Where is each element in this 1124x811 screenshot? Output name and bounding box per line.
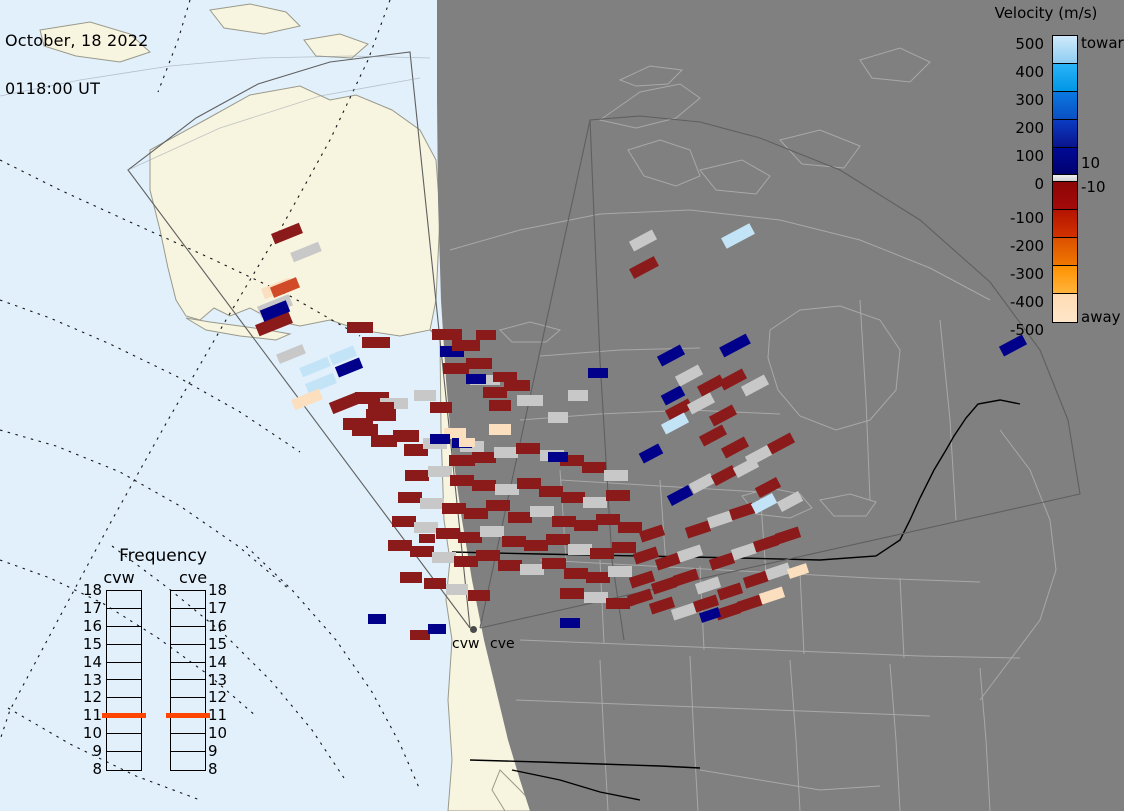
colorbar-segment-7 [1053,210,1077,238]
frequency-cell-cvw-0 [107,591,141,609]
frequency-label-cvw-11: 11 [80,706,102,724]
colorbar-segment-2 [1053,92,1077,120]
velocity-gate [410,546,434,557]
colorbar-segment-9 [1053,266,1077,294]
colorbar-segment-3 [1053,120,1077,148]
velocity-gate [432,552,456,563]
velocity-gate [606,490,630,501]
velocity-gate [414,522,438,533]
velocity-gate [542,558,566,569]
velocity-gate [424,578,446,589]
frequency-scale-labels-cvw: 18171615141312111098 [80,590,102,771]
velocity-gate [517,478,541,489]
frequency-scale-labels-cve: 18171615141312111098 [208,590,230,771]
time-label: 0118:00 UT [5,81,149,97]
velocity-gate [442,503,466,514]
frequency-label-cvw-9: 9 [80,742,102,760]
frequency-scale-box-cvw [106,590,142,771]
frequency-legend-panel: Frequency cvw 18171615141312111098 cve 1… [88,546,238,788]
velocity-gate [405,470,429,481]
station-label-cvw[interactable]: cvw [452,636,479,652]
velocity-gate [524,540,548,551]
velocity-gate [552,516,576,527]
velocity-gate [454,556,478,567]
velocity-gate [517,395,543,406]
date-label: October, 18 2022 [5,33,149,49]
velocity-gate [604,470,628,481]
frequency-label-cvw-16: 16 [80,617,102,635]
frequency-marker-cve [166,713,210,718]
velocity-gate [436,528,460,539]
frequency-cell-cvw-9 [107,752,141,770]
velocity-gate [516,443,540,454]
velocity-gate [618,522,642,533]
velocity-gate [590,548,614,559]
velocity-gate [458,532,482,543]
frequency-label-cvw-18: 18 [80,581,102,599]
velocity-gate [548,412,568,423]
velocity-gate [398,492,422,503]
velocity-gate [430,402,452,413]
velocity-gate [608,566,632,577]
frequency-cell-cvw-7 [107,716,141,734]
frequency-cell-cve-2 [171,627,205,645]
velocity-gate [612,542,636,553]
velocity-gate [420,498,444,509]
frequency-column-cve[interactable]: cve 18171615141312111098 [162,568,224,788]
velocity-gate [472,452,496,463]
colorbar-tick--500: -500 [1010,321,1044,339]
frequency-label-cvw-8: 8 [80,760,102,778]
colorbar-tick--300: -300 [1010,265,1044,283]
velocity-gate [466,374,486,384]
velocity-gate [502,536,526,547]
colorbar-tick-200: 200 [1015,119,1044,137]
colorbar-tick-labels: 5004003002001000-100-200-300-400-500 [968,28,1048,328]
colorbar-tick-0: 0 [1034,175,1044,193]
velocity-colorbar-panel: Velocity (m/s) 5004003002001000-100-200-… [968,2,1124,332]
frequency-cell-cvw-2 [107,627,141,645]
velocity-gate [606,598,630,609]
frequency-label-cve-12: 12 [208,688,230,706]
colorbar-segment-10 [1053,294,1077,322]
velocity-gate [483,387,507,398]
velocity-gate [368,614,386,624]
colorbar-zero-upper-label: 10 [1081,154,1100,172]
velocity-gate [476,330,496,340]
velocity-gate [362,337,390,348]
velocity-gate [352,424,378,436]
velocity-gate [568,390,588,401]
colorbar-gradient-bar[interactable] [1052,35,1078,323]
velocity-gate [419,534,435,543]
frequency-cell-cve-1 [171,609,205,627]
velocity-gate [508,512,532,523]
station-label-cve[interactable]: cve [490,636,515,652]
velocity-gate [560,618,580,628]
velocity-gate [393,430,419,442]
colorbar-segment-6 [1053,182,1077,210]
velocity-gate [414,390,436,401]
frequency-label-cve-13: 13 [208,671,230,689]
velocity-gate [586,572,610,583]
colorbar-side-labels: toward 10 -10 away [1081,28,1124,328]
frequency-label-cve-11: 11 [208,706,230,724]
velocity-gate [520,564,544,575]
velocity-gate [388,540,412,551]
station-marker-cvw [470,626,477,633]
frequency-cell-cve-8 [171,734,205,752]
velocity-gate [449,455,475,466]
colorbar-toward-label: toward [1081,34,1124,52]
frequency-cell-cve-5 [171,680,205,698]
velocity-gate [368,402,394,414]
radar-map-app: October, 18 2022 0118:00 UT Velocity (m/… [0,0,1124,811]
frequency-label-cve-17: 17 [208,599,230,617]
velocity-gate [588,368,608,378]
colorbar-tick--400: -400 [1010,293,1044,311]
velocity-gate [466,358,492,369]
velocity-gate [392,516,416,527]
velocity-gate [468,590,490,601]
velocity-gate [494,447,518,458]
frequency-column-cvw[interactable]: cvw 18171615141312111098 [88,568,150,788]
timestamp-block: October, 18 2022 0118:00 UT [5,1,149,129]
velocity-gate [539,486,563,497]
velocity-gate [472,480,496,491]
velocity-gate [400,572,422,583]
frequency-label-cvw-10: 10 [80,724,102,742]
frequency-cell-cvw-5 [107,680,141,698]
velocity-gate [561,492,585,503]
frequency-label-cve-10: 10 [208,724,230,742]
frequency-label-cve-8: 8 [208,760,230,778]
velocity-gate [564,568,588,579]
velocity-gate [452,340,480,351]
frequency-cell-cve-0 [171,591,205,609]
frequency-label-cvw-12: 12 [80,688,102,706]
velocity-gate [546,534,570,545]
colorbar-segment-8 [1053,238,1077,266]
velocity-gate [476,550,500,561]
frequency-label-cve-9: 9 [208,742,230,760]
velocity-gate [428,466,452,477]
frequency-scale-box-cve [170,590,206,771]
colorbar-segment-1 [1053,64,1077,92]
frequency-label-cvw-14: 14 [80,653,102,671]
colorbar-title: Velocity (m/s) [976,4,1116,22]
frequency-cell-cvw-3 [107,645,141,663]
frequency-legend-title: Frequency [88,546,238,566]
colorbar-away-label: away [1081,308,1121,326]
velocity-gate [432,329,462,340]
velocity-gate [347,322,373,333]
colorbar-segment-5 [1053,175,1077,182]
frequency-label-cve-15: 15 [208,635,230,653]
frequency-cell-cvw-4 [107,663,141,681]
velocity-gate [574,520,598,531]
colorbar-tick--100: -100 [1010,209,1044,227]
frequency-label-cvw-17: 17 [80,599,102,617]
frequency-label-cvw-15: 15 [80,635,102,653]
colorbar-zero-lower-label: -10 [1081,178,1106,196]
colorbar-tick--200: -200 [1010,237,1044,255]
frequency-cell-cve-4 [171,663,205,681]
colorbar-segment-4 [1053,148,1077,176]
velocity-gate [486,500,510,511]
velocity-gate [548,452,568,462]
velocity-gate [584,592,608,603]
velocity-gate [430,434,450,444]
frequency-cell-cve-7 [171,716,205,734]
frequency-cell-cve-3 [171,645,205,663]
frequency-cell-cve-9 [171,752,205,770]
velocity-gate [560,588,584,599]
colorbar-tick-100: 100 [1015,147,1044,165]
velocity-gate [459,438,475,447]
velocity-gate [583,497,607,508]
velocity-gate [428,624,446,634]
velocity-gate [446,584,468,595]
velocity-gate [530,506,554,517]
frequency-cell-cvw-8 [107,734,141,752]
frequency-label-cve-16: 16 [208,617,230,635]
frequency-cell-cvw-1 [107,609,141,627]
frequency-label-cve-18: 18 [208,581,230,599]
velocity-gate [464,508,488,519]
velocity-gate [498,560,522,571]
velocity-gate [596,514,620,525]
velocity-gate [495,484,519,495]
velocity-gate [489,400,511,411]
velocity-gate [489,424,511,435]
velocity-gate [582,462,606,473]
velocity-gate [504,380,530,391]
colorbar-tick-500: 500 [1015,35,1044,53]
frequency-label-cve-14: 14 [208,653,230,671]
velocity-gate [410,630,430,640]
colorbar-tick-300: 300 [1015,91,1044,109]
velocity-gate [450,475,474,486]
velocity-gate [568,544,592,555]
colorbar-tick-400: 400 [1015,63,1044,81]
frequency-label-cvw-13: 13 [80,671,102,689]
velocity-gate [443,363,469,374]
colorbar-segment-0 [1053,36,1077,64]
frequency-marker-cvw [102,713,146,718]
velocity-gate [480,526,504,537]
